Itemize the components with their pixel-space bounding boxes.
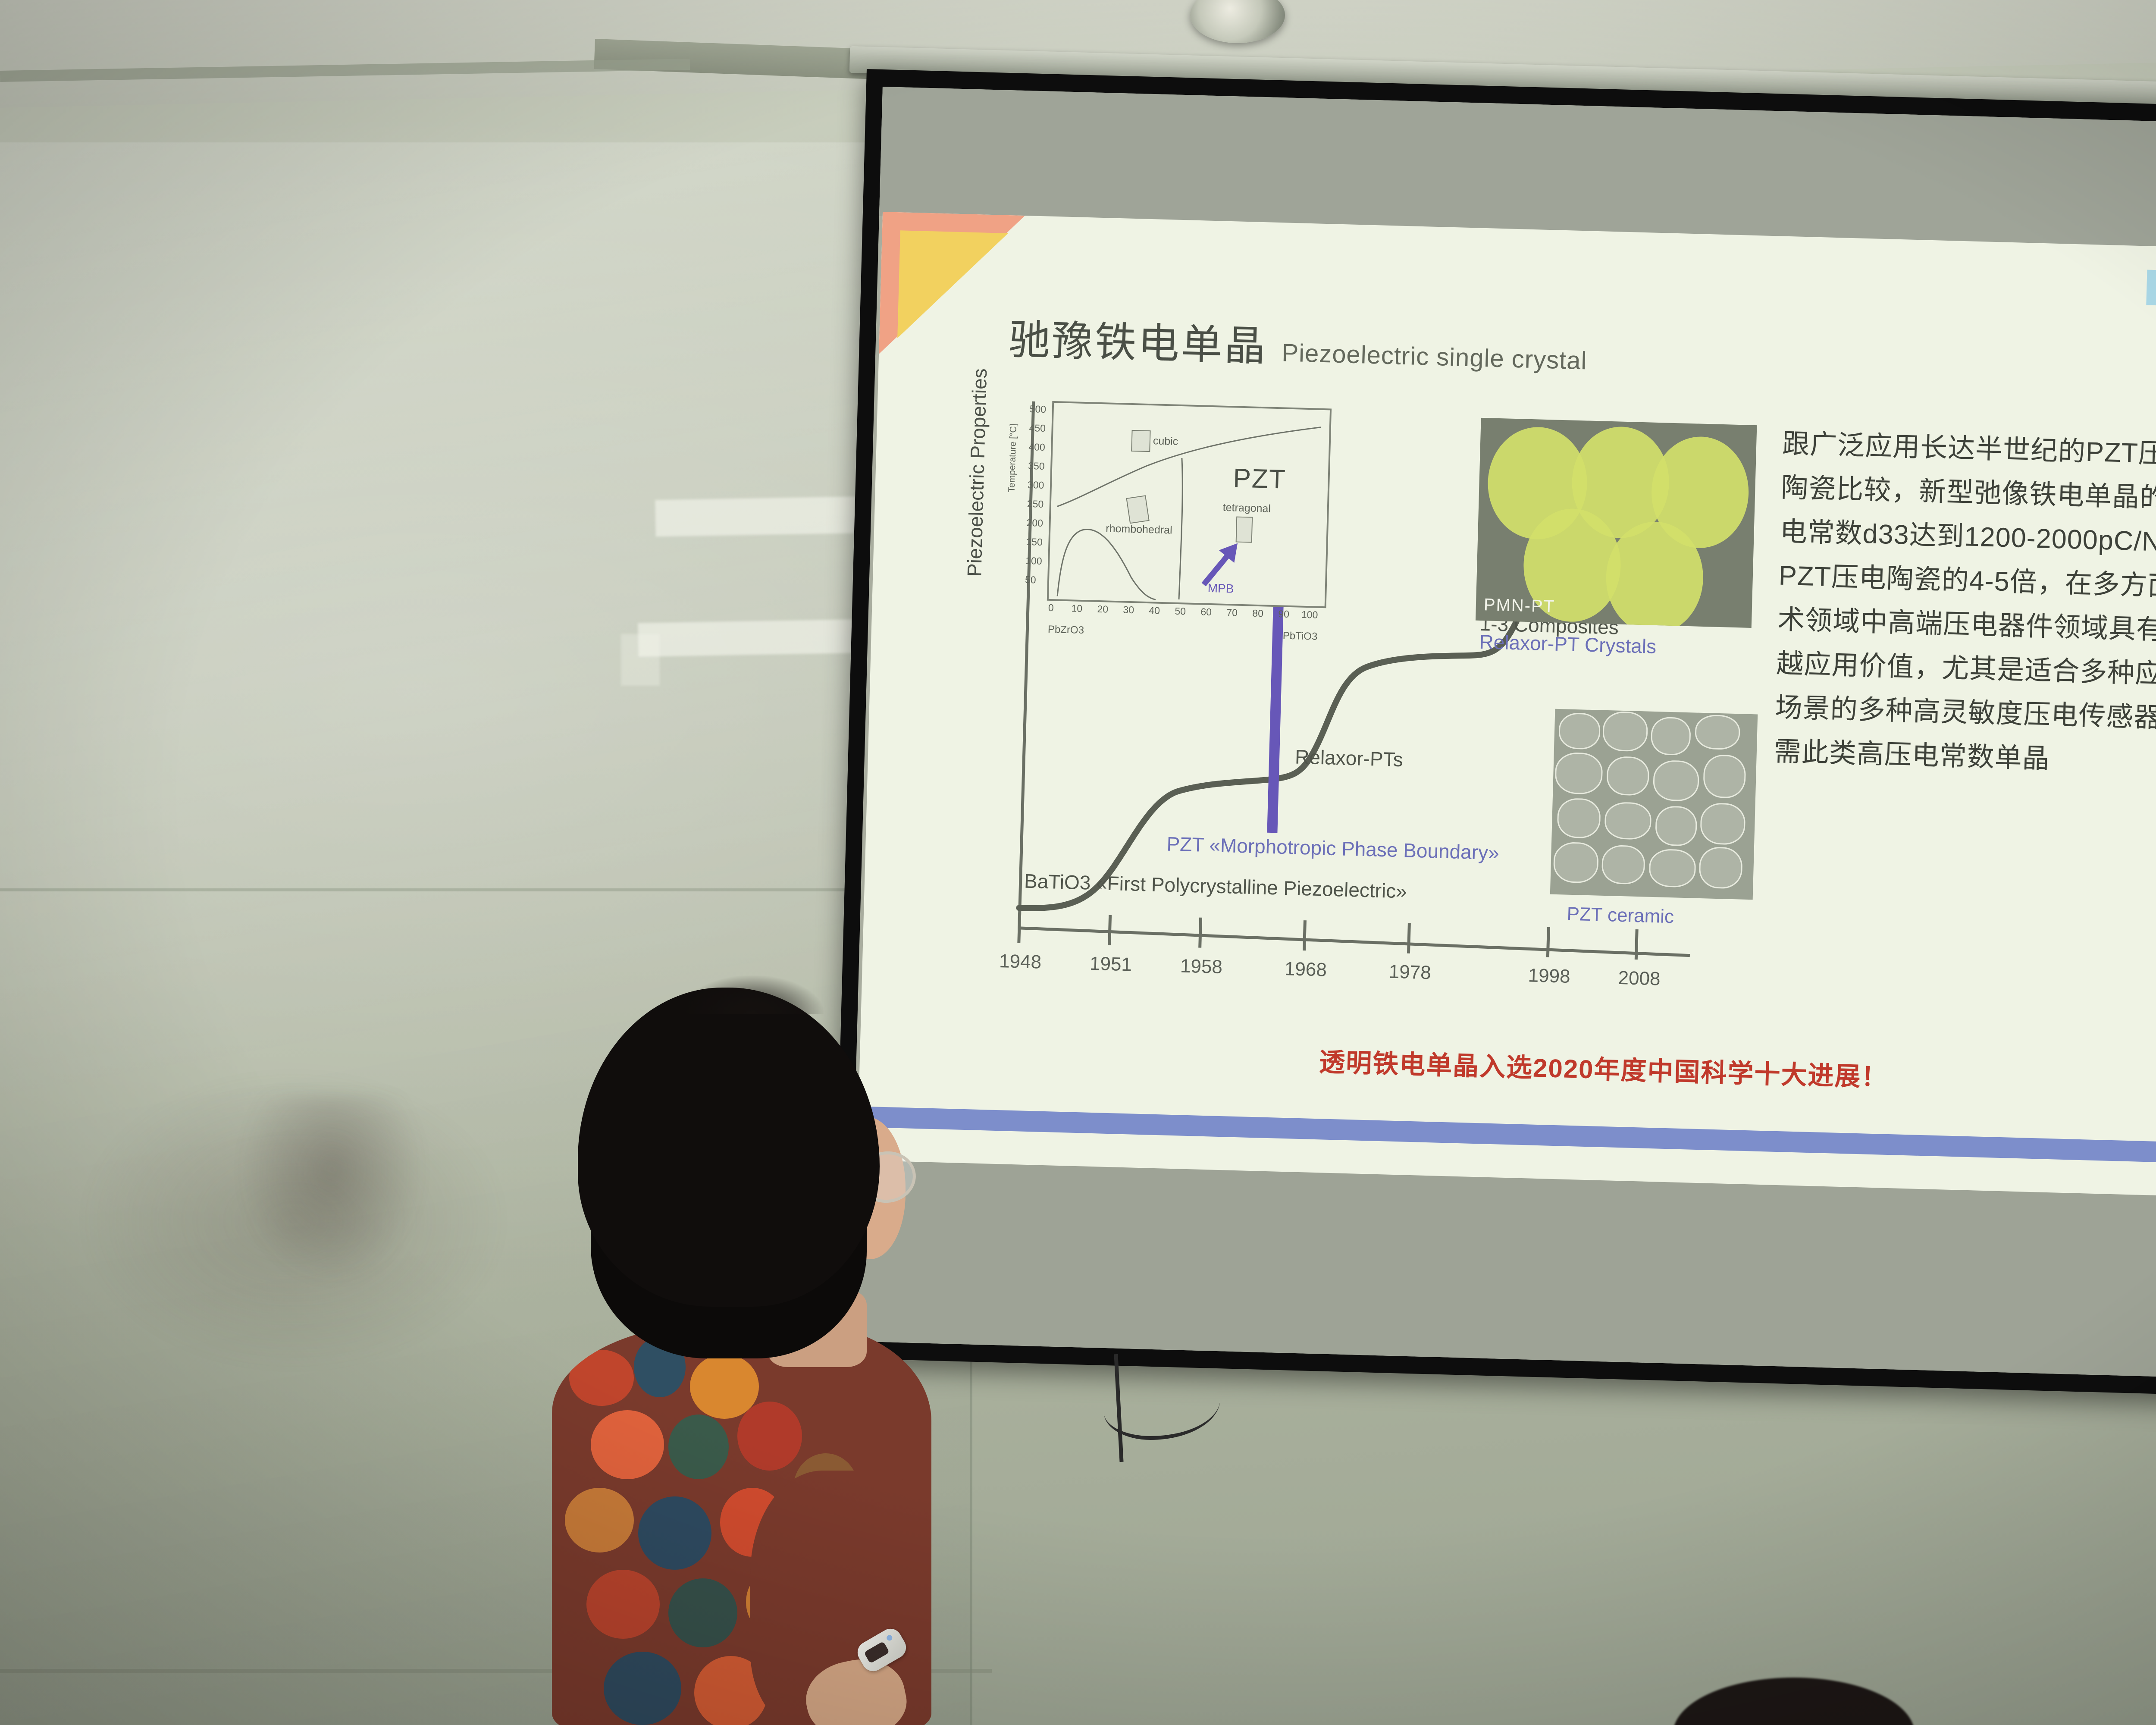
presenter-hair — [578, 988, 880, 1307]
chart-annotation-relaxor-pts: Relaxor-PTs — [1295, 745, 1404, 771]
presenter-hair-tuft — [681, 975, 824, 1014]
body-line: 需此类高压电常数单晶 — [1774, 730, 2156, 788]
inset-y-tick: 200 — [1026, 517, 1043, 529]
photo-caption-pzt-ceramic: PZT ceramic — [1567, 903, 1674, 928]
window-reflection — [655, 496, 871, 537]
inset-y-axis-label: Temperature [°C] — [1007, 423, 1019, 492]
slide-bottom-blue-bar — [858, 1106, 2156, 1167]
piezoelectric-timeline-figure: Piezoelectric Properties 1948 1951 1958 … — [960, 395, 1779, 1047]
chart-year-tick: 1958 — [1180, 955, 1222, 978]
wall-seam-line — [0, 888, 975, 891]
presentation-room-scene: 驰豫铁电单晶 Piezoelectric single crystal Piez… — [0, 0, 2156, 1725]
chart-year-tick: 1968 — [1284, 958, 1327, 981]
projection-screen: 驰豫铁电单晶 Piezoelectric single crystal Piez… — [831, 69, 2156, 1418]
inset-endmember-right: PbTiO3 — [1282, 630, 1317, 643]
tetragonal-cell-icon — [1236, 517, 1253, 543]
inset-x-tick: 80 — [1252, 608, 1263, 620]
inset-x-tick: 40 — [1149, 605, 1160, 617]
window-reflection — [638, 619, 880, 657]
inset-x-tick: 30 — [1123, 604, 1134, 616]
inset-annotation-mpb: MPB — [1207, 581, 1234, 596]
phase-label-tetragonal: tetragonal — [1222, 502, 1271, 515]
chart-year-tick: 1978 — [1388, 961, 1431, 984]
photo-overlay-label-pmn-pt: PMN-PT — [1483, 595, 1555, 616]
slide-title-chinese: 驰豫铁电单晶 — [1008, 306, 1269, 373]
inset-x-tick: 0 — [1048, 602, 1054, 614]
inset-y-tick: 250 — [1027, 498, 1044, 510]
inset-y-tick: 350 — [1028, 460, 1045, 472]
window-reflection — [621, 634, 660, 686]
slide-decor-blue-square — [2146, 270, 2156, 306]
rhombohedral-cell-icon — [1126, 495, 1149, 524]
inset-y-tick: 100 — [1025, 555, 1042, 567]
chart-year-tick: 2008 — [1618, 967, 1661, 990]
inset-x-tick: 50 — [1175, 605, 1186, 618]
phase-label-cubic: cubic — [1153, 435, 1178, 448]
inset-x-tick: 10 — [1071, 602, 1082, 615]
pzt-phase-diagram-inset: Temperature [°C] 50 100 150 200 250 300 … — [1047, 401, 1332, 608]
photo-caption-relaxor-crystals: Relaxor-PT Crystals — [1479, 630, 1657, 658]
inset-y-tick: 50 — [1025, 574, 1036, 586]
inset-y-tick: 500 — [1029, 403, 1046, 415]
inset-x-tick: 100 — [1301, 609, 1318, 621]
presenter — [526, 988, 1026, 1725]
slide-title: 驰豫铁电单晶 Piezoelectric single crystal — [1008, 306, 1588, 381]
inset-y-tick: 450 — [1029, 422, 1046, 434]
inset-x-tick: 60 — [1200, 606, 1212, 618]
inset-title-pzt: PZT — [1233, 463, 1287, 495]
clicker-button[interactable] — [864, 1641, 890, 1664]
inset-x-tick: 90 — [1278, 608, 1289, 620]
phase-label-rhombohedral: rhombohedral — [1106, 522, 1172, 536]
inset-y-tick: 300 — [1028, 479, 1044, 491]
inset-endmember-left: PbZrO3 — [1048, 624, 1084, 637]
slide-title-english: Piezoelectric single crystal — [1282, 338, 1588, 375]
cubic-cell-icon — [1131, 430, 1150, 452]
inset-x-tick: 20 — [1097, 603, 1108, 615]
inset-y-tick: 150 — [1026, 536, 1043, 548]
inset-phase-boundaries — [1049, 403, 1330, 606]
projected-slide: 驰豫铁电单晶 Piezoelectric single crystal Piez… — [857, 212, 2156, 1201]
chart-year-tick: 1951 — [1089, 953, 1132, 976]
clicker-led-indicator — [886, 1634, 893, 1642]
slide-red-highlight: 透明铁电单晶入选2020年度中国科学十大进展！ — [859, 1029, 2156, 1106]
slide-body-text: 跟广泛应用长达半世纪的PZT压电 陶瓷比较，新型弛像铁电单晶的压 电常数d33达… — [1774, 422, 2156, 788]
inset-y-tick: 400 — [1028, 441, 1045, 453]
relaxor-pt-crystals-photo: PMN-PT — [1476, 418, 1757, 628]
inset-x-tick: 70 — [1226, 607, 1238, 619]
chart-year-tick: 1998 — [1528, 965, 1570, 988]
wall-soft-reflection — [241, 1095, 423, 1281]
chart-year-tick: 1948 — [999, 950, 1042, 973]
pzt-ceramic-sem-photo — [1550, 709, 1758, 900]
